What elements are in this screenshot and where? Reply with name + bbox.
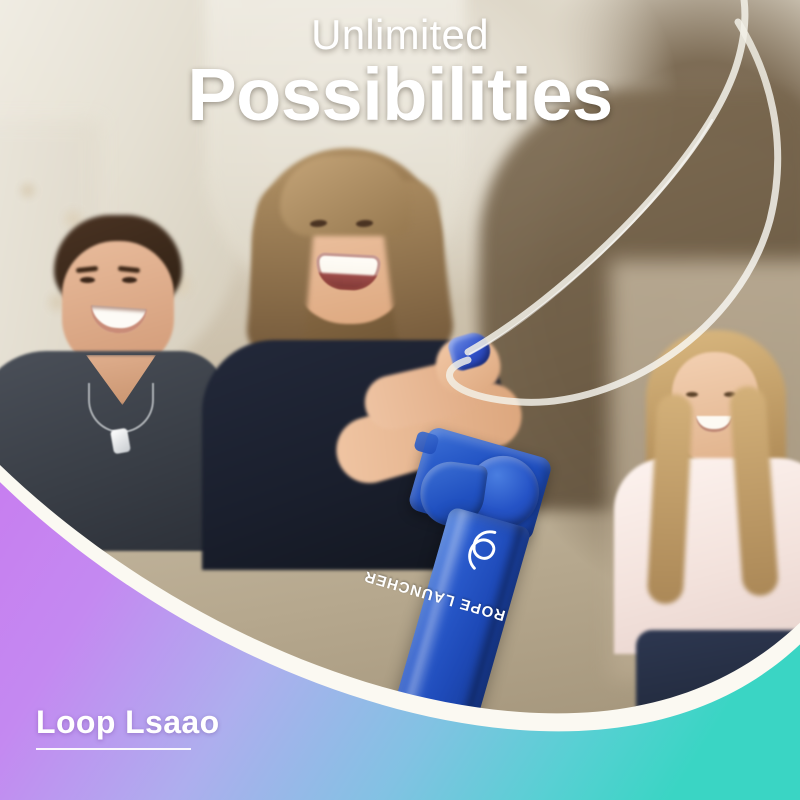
brand-block: Loop Lsaao [36,704,220,750]
man-eye-left [80,277,95,283]
headline-line-1: Unlimited [0,14,800,56]
page-title: Unlimited Possibilities [0,14,800,132]
figure-girl-right [620,330,800,690]
brand-underline [36,748,191,750]
promo-banner: ROPE LAUNCHER Unlimited Pos [0,0,800,800]
headline-line-2: Possibilities [0,58,800,132]
girl-jeans [636,630,800,720]
man-face [62,241,174,369]
man-eye-right [122,277,137,283]
girl-eye-left [686,392,698,397]
boy-hair-bangs [280,156,410,236]
brand-name: Loop Lsaao [36,704,220,741]
